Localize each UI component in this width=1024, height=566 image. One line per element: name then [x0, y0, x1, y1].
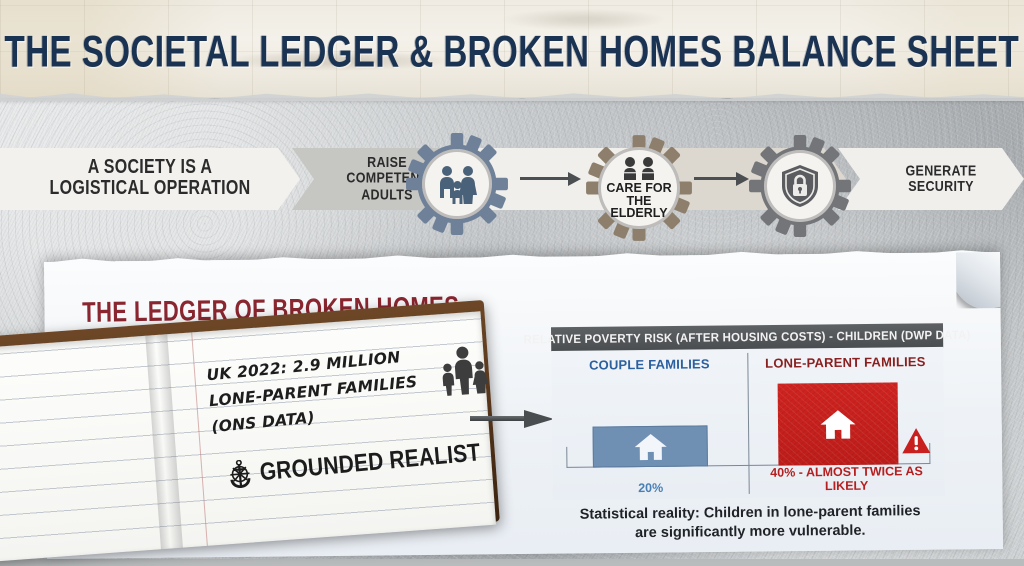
house-icon	[632, 430, 668, 462]
chart-column-couple-families: COUPLE FAMILIES 20%	[551, 349, 749, 500]
chart-category-label-couple: COUPLE FAMILIES	[551, 356, 747, 373]
chart-column-lone-parent-families: LONE-PARENT FAMILIES 40% - ALMOST TWICE …	[747, 347, 945, 498]
flow-step-society-line2: LOGISTICAL OPERATION	[50, 178, 251, 199]
anchor-compass-icon	[225, 459, 256, 491]
poverty-risk-chart: RELATIVE POVERTY RISK (AFTER HOUSING COS…	[551, 324, 945, 500]
gear-elderly-label-line2: THE ELDERLY	[598, 195, 680, 221]
family-icon	[434, 164, 480, 204]
gear-elderly-label-line1: CARE FOR	[606, 182, 671, 195]
flow-step-security-line2: SECURITY	[908, 178, 974, 195]
gear-elderly-disc: CARE FOR THE ELDERLY	[598, 147, 680, 229]
flow-arrow-1	[520, 172, 582, 186]
elderly-couple-icon	[618, 156, 660, 180]
chart-bar-couple	[593, 425, 708, 467]
flow-step-society-label: A SOCIETY IS A LOGISTICAL OPERATION	[0, 140, 300, 218]
notebook-to-chart-arrow	[470, 410, 560, 428]
flow-step-society: A SOCIETY IS A LOGISTICAL OPERATION	[0, 148, 300, 210]
notebook: UK 2022: 2.9 MILLION LONE-PARENT FAMILIE…	[0, 314, 500, 566]
flow-step-raise-line1: RAISE	[367, 154, 407, 171]
gear-shield-disc	[764, 150, 836, 222]
gear-family-disc	[422, 149, 492, 219]
gear-raise-competent-adults	[405, 132, 509, 236]
chart-value-label-couple: 20%	[553, 480, 749, 496]
shield-lock-icon	[778, 162, 822, 210]
chart-bar-area-couple	[552, 384, 749, 468]
process-flow-band: A SOCIETY IS A LOGISTICAL OPERATION RAIS…	[0, 148, 1024, 210]
flow-step-society-line1: A SOCIETY IS A	[88, 157, 213, 178]
chart-body: COUPLE FAMILIES 20% LONE-PARENT FAMILIES	[551, 347, 945, 500]
flow-step-security-line1: GENERATE	[906, 162, 977, 179]
flow-arrow-2	[694, 172, 750, 186]
chart-value-label-lone-parent: 40% - ALMOST TWICE AS LIKELY	[748, 464, 944, 494]
house-icon	[818, 406, 858, 441]
gear-generate-security	[748, 134, 852, 238]
flow-step-security-label: GENERATE SECURITY	[838, 142, 1024, 216]
page-curl-corner	[956, 252, 1001, 308]
chart-category-label-lone-parent: LONE-PARENT FAMILIES	[747, 354, 943, 371]
gear-care-for-elderly: CARE FOR THE ELDERLY	[585, 134, 693, 242]
chart-bar-lone-parent	[778, 382, 899, 465]
page-title: THE SOCIETAL LEDGER & BROKEN HOMES BALAN…	[0, 26, 1024, 77]
lone-parent-family-icon	[437, 344, 491, 403]
chart-caption: Statistical reality: Children in lone-pa…	[551, 502, 949, 543]
warning-triangle-icon	[901, 427, 931, 460]
flow-step-generate-security: GENERATE SECURITY	[838, 148, 1024, 210]
